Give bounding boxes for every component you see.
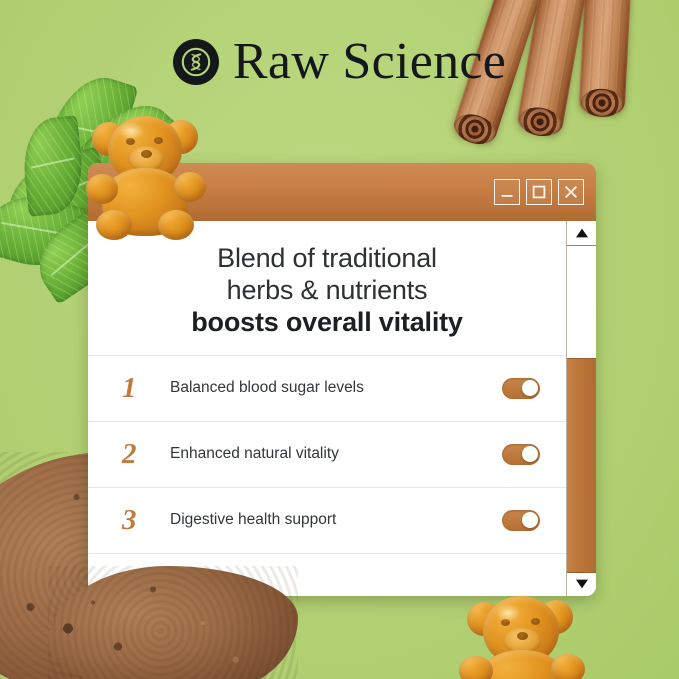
close-button[interactable]	[558, 179, 584, 205]
scroll-up-button[interactable]	[567, 221, 596, 246]
benefit-label: Balanced blood sugar levels	[170, 379, 502, 397]
brand-name: Raw Science	[233, 36, 506, 88]
benefit-row[interactable]: 1 Balanced blood sugar levels	[88, 356, 566, 422]
scroll-thumb[interactable]	[567, 358, 596, 573]
benefit-number: 2	[122, 438, 170, 471]
benefit-number: 3	[122, 504, 170, 537]
headline-line-2: herbs & nutrients	[114, 275, 540, 307]
benefit-toggle[interactable]	[502, 444, 540, 465]
vertical-scrollbar[interactable]	[566, 221, 596, 596]
maximize-button[interactable]	[526, 179, 552, 205]
minimize-button[interactable]	[494, 179, 520, 205]
window-controls	[494, 179, 584, 205]
window-content: Blend of traditional herbs & nutrients b…	[88, 221, 566, 596]
headline-line-3: boosts overall vitality	[114, 307, 540, 339]
s-monogram-circle-icon	[173, 39, 219, 85]
window-body: Blend of traditional herbs & nutrients b…	[88, 221, 596, 596]
headline-line-1: Blend of traditional	[114, 243, 540, 275]
brand-header: Raw Science	[0, 36, 679, 88]
benefit-row[interactable]: 3 Digestive health support	[88, 488, 566, 554]
benefit-toggle[interactable]	[502, 378, 540, 399]
benefit-toggle[interactable]	[502, 510, 540, 531]
benefit-label: Enhanced natural vitality	[170, 445, 502, 463]
benefit-label: Digestive health support	[170, 511, 502, 529]
gummy-bear-top-decoration	[84, 110, 208, 242]
poster-canvas: Raw Science	[0, 0, 679, 679]
scroll-track[interactable]	[567, 246, 596, 571]
gummy-bear-bottom-decoration	[455, 588, 589, 679]
benefit-number: 1	[122, 372, 170, 405]
benefit-row[interactable]: 2 Enhanced natural vitality	[88, 422, 566, 488]
